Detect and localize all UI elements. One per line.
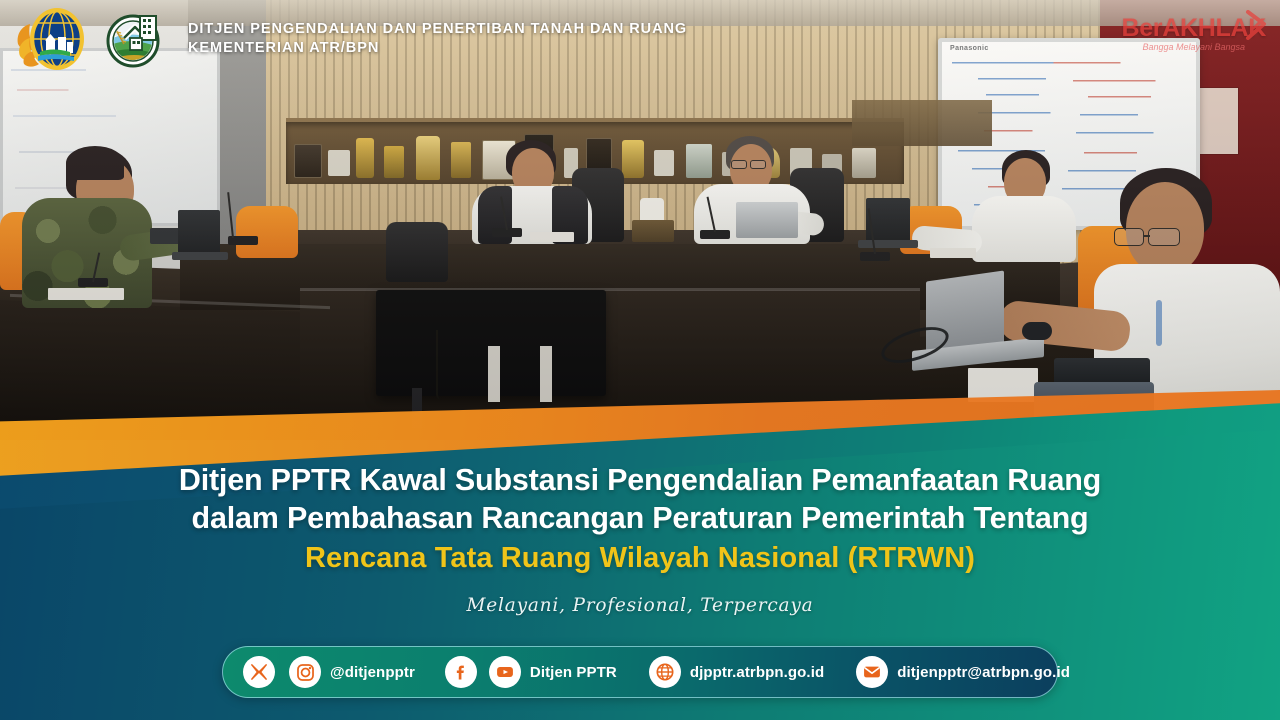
social-item-facebook[interactable]	[445, 656, 477, 688]
envelope-email-icon[interactable]	[856, 656, 888, 688]
eyeglasses-right	[1148, 228, 1180, 246]
title-subtitle: Rencana Tata Ruang Wilayah Nasional (RTR…	[60, 540, 1220, 578]
tablet-device	[736, 202, 798, 238]
trophy	[416, 136, 440, 180]
email-address: ditjenpptr@atrbpn.go.id	[897, 664, 1070, 681]
social-item-instagram[interactable]: @ditjenpptr	[289, 656, 415, 688]
eyeglasses-left	[731, 160, 747, 169]
trophy	[356, 138, 374, 178]
org-line-2: KEMENTERIAN ATR/BPN	[188, 39, 687, 58]
facebook-icon[interactable]	[445, 656, 477, 688]
motto-tagline: Melayani, Profesional, Terpercaya	[0, 595, 1280, 616]
name-plate	[632, 220, 674, 242]
berakhlak-swoosh-icon	[1244, 10, 1270, 40]
executive-chair	[386, 222, 448, 282]
globe-website-icon[interactable]	[649, 656, 681, 688]
eyeglasses-left	[1114, 228, 1144, 246]
orange-chair	[236, 206, 298, 258]
laptop-base	[172, 252, 228, 260]
eyeglasses-right	[750, 160, 766, 169]
social-item-email[interactable]: ditjenpptr@atrbpn.go.id	[856, 656, 1070, 688]
title-line-1: Ditjen PPTR Kawal Substansi Pengendalian…	[60, 462, 1220, 500]
title-line-2: dalam Pembahasan Rancangan Peraturan Pem…	[60, 500, 1220, 538]
header-bar: DITJEN PENGENDALIAN DAN PENERTIBAN TANAH…	[0, 0, 1280, 78]
ditjen-pptr-house-logo	[104, 8, 166, 70]
plaque	[654, 150, 674, 176]
shirt-pen	[1156, 300, 1162, 346]
plaque	[328, 150, 350, 176]
x-twitter-icon[interactable]	[243, 656, 275, 688]
trophy	[622, 140, 644, 178]
youtube-icon[interactable]	[489, 656, 521, 688]
white-shirt	[972, 196, 1076, 262]
berakhlak-logo: BerAKHLAK Bangga Melayani Bangsa	[1121, 16, 1266, 52]
poster-stage: Panasonic	[0, 0, 1280, 720]
social-item-website[interactable]: djpptr.atrbpn.go.id	[649, 656, 824, 688]
instagram-handle: @ditjenpptr	[330, 664, 415, 681]
social-item-x[interactable]	[243, 656, 275, 688]
laptop-base	[858, 240, 918, 248]
berakhlak-tagline: Bangga Melayani Bangsa	[1121, 42, 1266, 52]
youtube-channel: Ditjen PPTR	[530, 664, 617, 681]
social-item-youtube[interactable]: Ditjen PPTR	[489, 656, 617, 688]
berakhlak-ber: Ber	[1121, 14, 1162, 42]
org-line-1: DITJEN PENGENDALIAN DAN PENERTIBAN TANAH…	[188, 20, 687, 39]
atr-bpn-globe-logo	[14, 4, 90, 74]
instagram-icon[interactable]	[289, 656, 321, 688]
banner-title: Ditjen PPTR Kawal Substansi Pengendalian…	[0, 462, 1280, 577]
eyeglasses-bridge	[1143, 235, 1150, 237]
plaque	[294, 144, 322, 178]
website-url: djpptr.atrbpn.go.id	[690, 664, 824, 681]
tissue-box	[640, 198, 664, 220]
plaque	[852, 148, 876, 178]
side-shelf	[852, 100, 992, 146]
trophy	[384, 146, 404, 178]
plaque	[686, 144, 712, 178]
paper-sheet	[930, 248, 976, 258]
paper-sheet	[48, 288, 124, 300]
social-media-bar: @ditjenpptr Ditjen PPTR	[222, 646, 1058, 698]
hair-top	[66, 146, 124, 180]
trophy	[451, 142, 471, 178]
paper-sheet	[530, 232, 574, 242]
computer-mouse	[1022, 322, 1052, 340]
laptop-left	[178, 210, 220, 256]
organization-name: DITJEN PENGENDALIAN DAN PENERTIBAN TANAH…	[188, 20, 687, 57]
